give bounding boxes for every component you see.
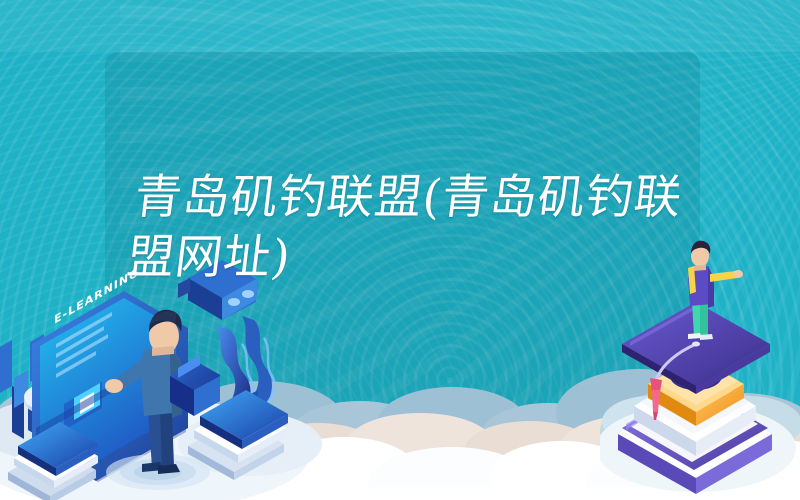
page-title: 青岛矶钓联盟(青岛矶钓联盟网址) <box>124 168 699 288</box>
illustration-e-learning: E-LEARNING <box>0 258 322 500</box>
banner-canvas: E-LEARNING <box>0 0 800 500</box>
background-top-band <box>0 0 800 52</box>
